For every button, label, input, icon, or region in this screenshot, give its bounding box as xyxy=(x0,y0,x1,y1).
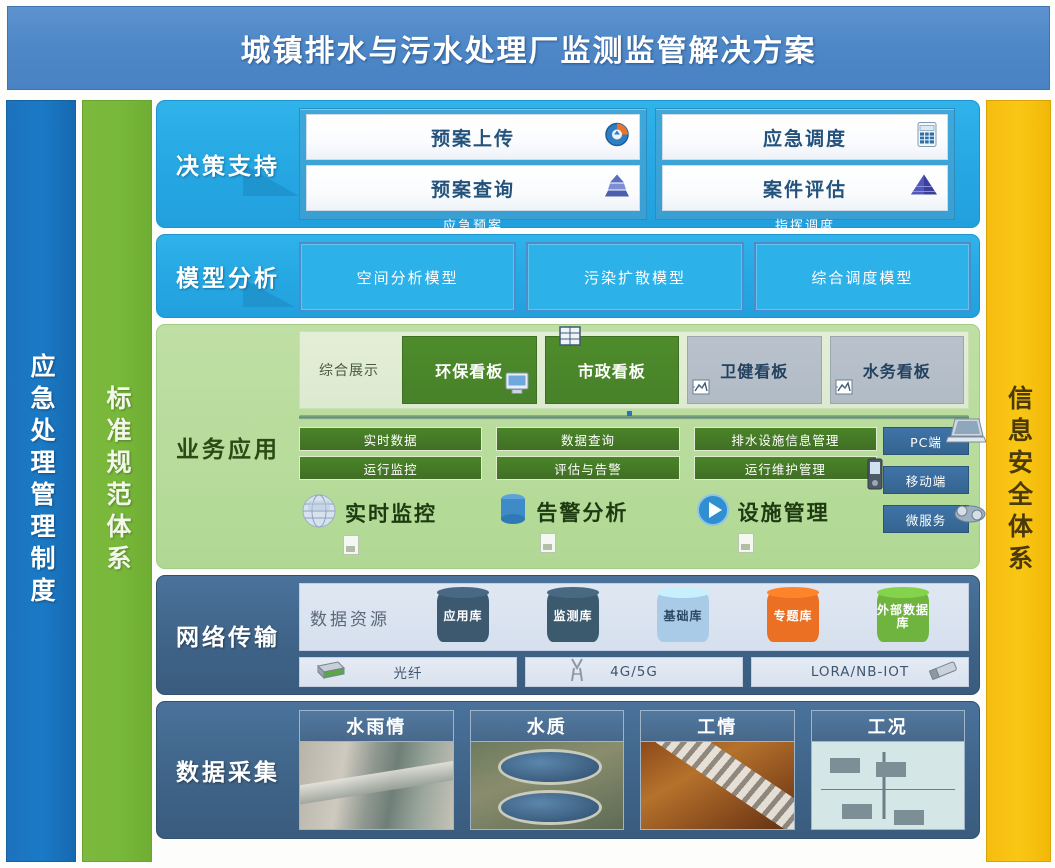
laptop-icon xyxy=(946,416,986,449)
function-head-realtime-monitor[interactable]: 实时监控 xyxy=(299,491,482,535)
doc-marker xyxy=(540,533,556,553)
function-head-facility-management-label: 设施管理 xyxy=(738,497,830,527)
decision-item-plan-query-label: 预案查询 xyxy=(431,175,515,202)
band-business-application: 业务应用 综合展示 环保看板 xyxy=(156,324,980,569)
dashboard-environment[interactable]: 环保看板 xyxy=(402,336,537,404)
dashboard-environment-label: 环保看板 xyxy=(435,358,503,382)
database-basic[interactable]: 基础库 xyxy=(657,592,709,642)
mobile-phone-icon xyxy=(864,457,886,494)
dashboard-municipal-label: 市政看板 xyxy=(578,358,646,382)
dashboard-water-affairs[interactable]: 水务看板 xyxy=(830,336,965,404)
database-icon xyxy=(496,491,530,533)
decision-group-emergency-plan: 预案上传 预案查询 xyxy=(299,108,647,220)
model-box-spatial[interactable]: 空间分析模型 xyxy=(299,242,516,312)
pyramid-chart-icon xyxy=(604,174,630,203)
database-thematic[interactable]: 专题库 xyxy=(767,592,819,642)
media-fiber-label: 光纤 xyxy=(394,662,423,682)
function-head-alarm-analysis[interactable]: 告警分析 xyxy=(496,491,679,533)
function-column-facility: 排水设施信息管理 运行维护管理 设施管理 xyxy=(694,427,877,562)
band-label-model-analysis: 模型分析 xyxy=(157,235,299,317)
fiber-router-icon xyxy=(314,659,346,685)
upload-gauge-icon xyxy=(604,122,630,153)
data-tile-water-quality-label: 水质 xyxy=(470,710,625,741)
band-label-decision-support: 决策支持 xyxy=(157,101,299,227)
window-icon xyxy=(558,325,582,353)
function-pill-maintenance-management[interactable]: 运行维护管理 xyxy=(694,456,877,480)
database-list: 应用库 监测库 基础库 专题库 外部数据库 xyxy=(408,592,958,642)
client-microservice-label: 微服务 xyxy=(906,510,947,529)
function-pill-assessment-alarm[interactable]: 评估与告警 xyxy=(496,456,679,480)
decision-group-caption-emergency-plan: 应急预案 xyxy=(306,215,640,234)
decision-item-plan-query[interactable]: 预案查询 xyxy=(306,165,640,211)
scada-diagram-photo xyxy=(811,741,966,830)
function-column-realtime: 实时数据 运行监控 xyxy=(299,427,482,562)
business-divider xyxy=(299,415,969,420)
database-application[interactable]: 应用库 xyxy=(437,592,489,642)
band-network-transmission: 网络传输 数据资源 应用库 监测库 基础库 专题库 外部数据库 xyxy=(156,575,980,695)
pillar-emergency-management: 应急处理管理制度 xyxy=(6,100,76,862)
dashboard-row: 综合展示 环保看板 市政看板 xyxy=(299,331,969,409)
data-resource-title: 数据资源 xyxy=(310,605,390,630)
function-column-alarm: 数据查询 评估与告警 告警分析 xyxy=(496,427,679,562)
dashboard-water-affairs-label: 水务看板 xyxy=(863,358,931,382)
model-box-pollution-diffusion[interactable]: 污染扩散模型 xyxy=(526,242,743,312)
client-mobile-label: 移动端 xyxy=(906,471,947,490)
band-label-business-application: 业务应用 xyxy=(157,325,299,568)
divider-marker xyxy=(627,411,632,416)
play-circle-icon xyxy=(694,491,732,533)
decision-item-case-assessment-label: 案件评估 xyxy=(763,175,847,202)
function-pill-data-query[interactable]: 数据查询 xyxy=(496,427,679,451)
decision-item-case-assessment[interactable]: 案件评估 xyxy=(662,165,948,211)
data-tile-water-quality[interactable]: 水质 xyxy=(470,710,625,830)
client-microservice[interactable]: 微服务 xyxy=(883,505,969,533)
pyramid-3d-icon xyxy=(910,174,938,203)
diagram-canvas: 城镇排水与污水处理厂监测监管解决方案 应急处理管理制度 标准规范体系 信息安全体… xyxy=(0,0,1055,868)
doc-marker xyxy=(343,535,359,555)
decision-item-plan-upload-label: 预案上传 xyxy=(431,124,515,151)
media-cellular-label: 4G/5G xyxy=(610,664,658,680)
page-title: 城镇排水与污水处理厂监测监管解决方案 xyxy=(241,26,817,70)
function-pill-operation-monitor[interactable]: 运行监控 xyxy=(299,456,482,480)
doc-marker xyxy=(738,533,754,553)
decision-group-command-dispatch: 应急调度 xyxy=(655,108,955,220)
data-tile-engineering-label: 工情 xyxy=(640,710,795,741)
data-tile-hydrology[interactable]: 水雨情 xyxy=(299,710,454,830)
gear-cloud-icon xyxy=(950,498,990,529)
data-resource-row: 数据资源 应用库 监测库 基础库 专题库 外部数据库 xyxy=(299,583,969,651)
client-mobile[interactable]: 移动端 xyxy=(883,466,969,494)
function-pill-realtime-data[interactable]: 实时数据 xyxy=(299,427,482,451)
band-label-network-transmission: 网络传输 xyxy=(157,576,299,694)
globe-icon xyxy=(299,491,339,535)
band-data-collection: 数据采集 水雨情 水质 工情 工况 xyxy=(156,701,980,839)
media-lora-nbiot[interactable]: LORA/NB-IOT xyxy=(751,657,969,687)
band-decision-support: 决策支持 预案上传 xyxy=(156,100,980,228)
network-transmission-body: 数据资源 应用库 监测库 基础库 专题库 外部数据库 xyxy=(299,583,969,687)
data-tile-operating-condition[interactable]: 工况 xyxy=(811,710,966,830)
layer-stack: 决策支持 预案上传 xyxy=(156,100,980,845)
data-tile-engineering[interactable]: 工情 xyxy=(640,710,795,830)
client-pc[interactable]: PC端 xyxy=(883,427,969,455)
canal-embankment-photo xyxy=(299,741,454,830)
pillar-standards-system: 标准规范体系 xyxy=(82,100,152,862)
broken-image-icon xyxy=(692,379,710,399)
dashboard-health[interactable]: 卫健看板 xyxy=(687,336,822,404)
antenna-tower-icon xyxy=(566,657,588,687)
calculator-grid-icon xyxy=(916,122,938,153)
dashboard-row-title: 综合展示 xyxy=(304,336,394,404)
band-model-analysis: 模型分析 空间分析模型 污染扩散模型 综合调度模型 xyxy=(156,234,980,318)
media-fiber[interactable]: 光纤 xyxy=(299,657,517,687)
data-collection-body: 水雨情 水质 工情 工况 xyxy=(299,710,965,830)
database-monitoring[interactable]: 监测库 xyxy=(547,592,599,642)
function-columns: 实时数据 运行监控 xyxy=(299,427,877,562)
page-title-bar: 城镇排水与污水处理厂监测监管解决方案 xyxy=(7,6,1050,90)
decision-item-emergency-dispatch[interactable]: 应急调度 xyxy=(662,114,948,160)
broken-image-icon xyxy=(835,379,853,399)
pipe-trench-photo xyxy=(640,741,795,830)
media-cellular[interactable]: 4G/5G xyxy=(525,657,743,687)
decision-group-caption-command-dispatch: 指挥调度 xyxy=(662,215,948,234)
function-pill-drainage-facility-info[interactable]: 排水设施信息管理 xyxy=(694,427,877,451)
function-head-realtime-monitor-label: 实时监控 xyxy=(345,498,437,528)
business-application-body: 综合展示 环保看板 市政看板 xyxy=(299,331,969,562)
data-tile-hydrology-label: 水雨情 xyxy=(299,710,454,741)
dashboard-health-label: 卫健看板 xyxy=(720,358,788,382)
database-external[interactable]: 外部数据库 xyxy=(877,592,929,642)
transmission-media-row: 光纤 4G/5G LORA/NB-IOT xyxy=(299,657,969,687)
band-label-data-collection: 数据采集 xyxy=(157,702,299,838)
sedimentation-tank-photo xyxy=(470,741,625,830)
monitor-icon xyxy=(504,371,530,399)
dashboard-municipal[interactable]: 市政看板 xyxy=(545,336,680,404)
data-tile-operating-condition-label: 工况 xyxy=(811,710,966,741)
decision-item-emergency-dispatch-label: 应急调度 xyxy=(763,124,847,151)
model-box-row: 空间分析模型 污染扩散模型 综合调度模型 xyxy=(299,242,971,312)
pillar-information-security: 信息安全体系 xyxy=(986,100,1051,862)
function-head-facility-management[interactable]: 设施管理 xyxy=(694,491,877,533)
client-endpoints: PC端 移动端 xyxy=(883,427,969,533)
model-box-integrated-dispatch[interactable]: 综合调度模型 xyxy=(754,242,971,312)
decision-item-plan-upload[interactable]: 预案上传 xyxy=(306,114,640,160)
client-pc-label: PC端 xyxy=(910,432,942,451)
function-head-alarm-analysis-label: 告警分析 xyxy=(536,497,628,527)
rf-module-icon xyxy=(926,658,962,686)
media-lora-nbiot-label: LORA/NB-IOT xyxy=(811,664,909,680)
